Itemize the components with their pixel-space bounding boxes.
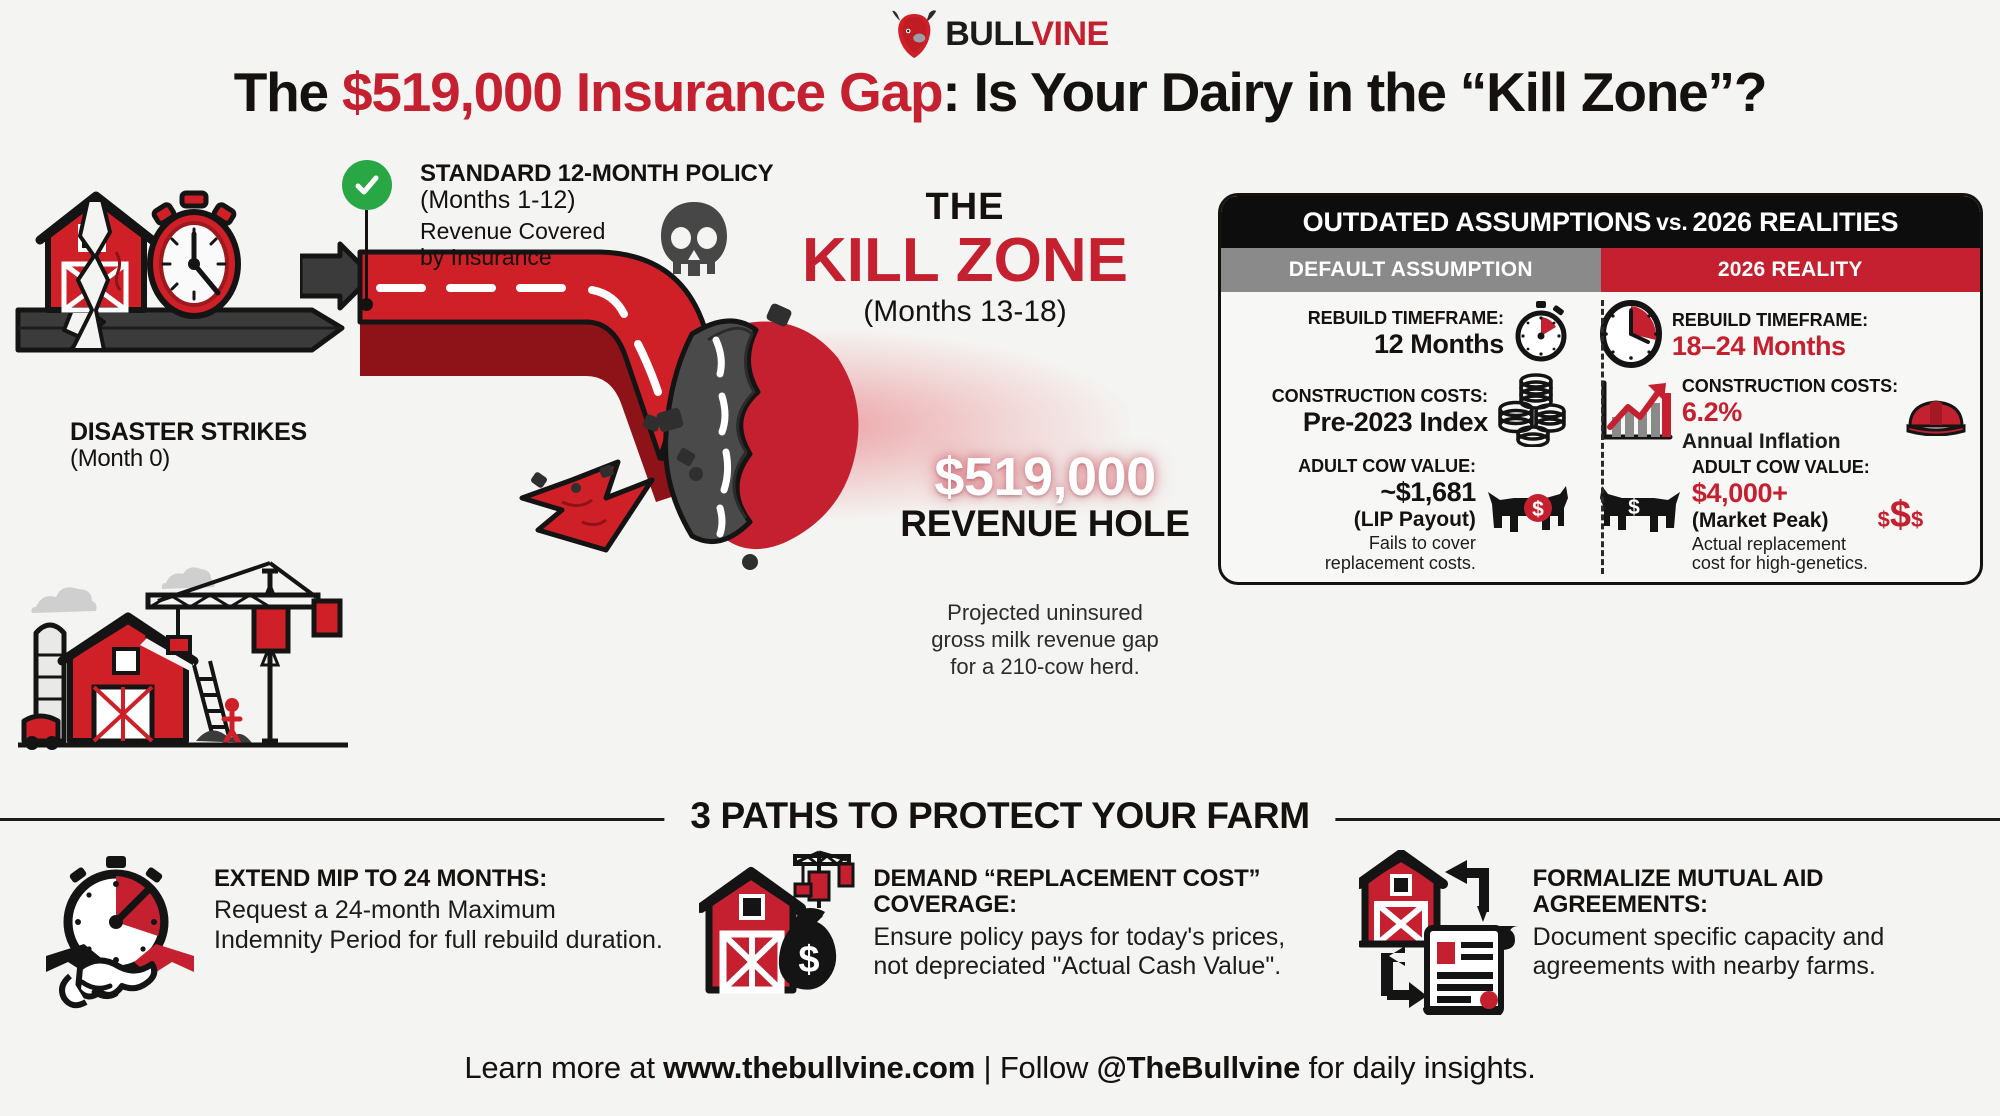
table-row: REBUILD TIMEFRAME: 12 Months: [1221, 300, 1584, 367]
revenue-hole-value: $519,000: [885, 450, 1205, 504]
clock-icon: [1598, 300, 1664, 373]
cell-paren: (LIP Payout): [1298, 508, 1476, 532]
footer-site-link[interactable]: www.thebullvine.com: [663, 1050, 975, 1085]
comparison-column-right: REBUILD TIMEFRAME: 18–24 Months: [1584, 292, 1980, 582]
cell-note: Fails to coverreplacement costs.: [1298, 534, 1476, 574]
cell-value: ~$1,681: [1298, 477, 1476, 508]
cell-label: ADULT COW VALUE:: [1298, 456, 1476, 477]
cell-note: Annual Inflation: [1682, 430, 1898, 453]
comparison-column-left: REBUILD TIMEFRAME: 12 Months: [1221, 292, 1584, 582]
callout-stem: [365, 210, 368, 305]
table-row: CONSTRUCTION COSTS: 6.2% Annual Inflatio…: [1584, 376, 1980, 453]
kill-zone-the: THE: [730, 188, 1200, 226]
cow-dollar-icon: $: [1598, 482, 1684, 549]
hole-note-line2: gross milk revenue gap: [885, 627, 1205, 654]
svg-text:$: $: [1532, 498, 1544, 521]
list-item: EXTEND MIP TO 24 MONTHS: Request a 24-mo…: [0, 850, 681, 1015]
comparison-divider: [1601, 300, 1604, 574]
column-header-reality: 2026 REALITY: [1601, 248, 1981, 292]
cow-dollar-icon: $: [1484, 482, 1570, 549]
bull-head-logo-icon: [891, 8, 937, 60]
comparison-title-main: OUTDATED ASSUMPTIONS: [1303, 207, 1652, 238]
svg-text:$: $: [1628, 496, 1640, 519]
headline-pre: The: [234, 61, 342, 123]
cell-label: REBUILD TIMEFRAME:: [1672, 310, 1868, 331]
hole-note-line3: for a 210-cow herd.: [885, 654, 1205, 681]
hole-note-line1: Projected uninsured: [885, 600, 1205, 627]
barn-under-construction-icon: [18, 545, 348, 775]
kill-zone-block: THE KILL ZONE (Months 13-18): [730, 188, 1200, 329]
revenue-hole-label: REVENUE HOLE: [885, 505, 1205, 544]
comparison-card: OUTDATED ASSUMPTIONS vs. 2026 REALITIES …: [1218, 193, 1983, 585]
kill-zone-title: KILL ZONE: [730, 228, 1200, 293]
paths-section-heading: 3 PATHS TO PROTECT YOUR FARM: [664, 795, 1335, 837]
cell-label: ADULT COW VALUE:: [1692, 457, 1870, 478]
list-item: $ DEMAND “REPLACEMENT COST” COVERAGE: En…: [681, 850, 1340, 1015]
svg-text:$: $: [799, 939, 820, 981]
kill-zone-months: (Months 13-18): [730, 295, 1200, 329]
cell-value: $4,000+: [1692, 478, 1870, 509]
path-title: DEMAND “REPLACEMENT COST” COVERAGE:: [873, 866, 1322, 919]
footer: Learn more at www.thebullvine.com | Foll…: [0, 1050, 2000, 1086]
green-check-icon: [342, 160, 392, 210]
page-title: The $519,000 Insurance Gap: Is Your Dair…: [0, 60, 2000, 124]
cell-value: 6.2%: [1682, 397, 1898, 428]
footer-handle-link[interactable]: @TheBullvine: [1097, 1050, 1301, 1085]
brand-logo: BULLVINE: [891, 8, 1108, 60]
footer-mid: | Follow: [975, 1050, 1096, 1085]
table-row: $ ADULT COW VALUE: $4,000+ (Market Peak)…: [1584, 457, 1980, 575]
column-header-default: DEFAULT ASSUMPTION: [1221, 248, 1601, 292]
revenue-hole-note: Projected uninsured gross milk revenue g…: [885, 600, 1205, 680]
list-item: FORMALIZE MUTUAL AID AGREEMENTS: Documen…: [1341, 850, 2000, 1015]
comparison-card-title: OUTDATED ASSUMPTIONS vs. 2026 REALITIES: [1221, 196, 1980, 248]
brand-name-part2: VINE: [1031, 15, 1108, 53]
hard-hat-icon: [1906, 388, 1966, 441]
path-title: EXTEND MIP TO 24 MONTHS:: [214, 866, 663, 892]
footer-post: for daily insights.: [1300, 1050, 1536, 1085]
cell-value: 18–24 Months: [1672, 331, 1868, 362]
cell-value: Pre-2023 Index: [1272, 407, 1488, 438]
policy-title: STANDARD 12-MONTH POLICY: [420, 160, 820, 188]
coin-stacks-icon: [1496, 371, 1570, 452]
dollar-signs-icon: $$$: [1878, 496, 1924, 534]
headline-accent: $519,000 Insurance Gap: [342, 61, 942, 123]
skull-icon: [655, 200, 733, 292]
comparison-title-end: 2026 REALITIES: [1693, 207, 1899, 238]
path-body: Request a 24-month Maximum Indemnity Per…: [214, 896, 663, 955]
cell-label: CONSTRUCTION COSTS:: [1272, 386, 1488, 407]
table-row: ADULT COW VALUE: ~$1,681 (LIP Payout) Fa…: [1221, 456, 1584, 574]
table-row: REBUILD TIMEFRAME: 18–24 Months: [1584, 300, 1980, 373]
comparison-body: REBUILD TIMEFRAME: 12 Months: [1221, 292, 1980, 582]
footer-pre: Learn more at: [464, 1050, 663, 1085]
cell-note: Actual replacementcost for high-genetics…: [1692, 535, 1870, 575]
comparison-column-headers: DEFAULT ASSUMPTION 2026 REALITY: [1221, 248, 1980, 292]
handshake-stopwatch-icon: [40, 850, 200, 1015]
stopwatch-icon: [1512, 300, 1570, 367]
path-body: Document specific capacity and agreement…: [1533, 923, 1982, 982]
paths-list: EXTEND MIP TO 24 MONTHS: Request a 24-mo…: [0, 850, 2000, 1015]
cell-label: CONSTRUCTION COSTS:: [1682, 376, 1898, 397]
callout-dot: [360, 298, 373, 311]
barn-contract-exchange-icon: [1359, 850, 1519, 1015]
brand-wordmark: BULLVINE: [945, 17, 1108, 51]
cell-paren: (Market Peak): [1692, 509, 1870, 533]
headline-post: : Is Your Dairy in the “Kill Zone”?: [942, 61, 1766, 123]
table-row: CONSTRUCTION COSTS: Pre-2023 Index: [1221, 371, 1584, 452]
cell-value: 12 Months: [1308, 329, 1504, 360]
comparison-title-vs: vs.: [1656, 209, 1687, 236]
infographic-root: BULLVINE The $519,000 Insurance Gap: Is …: [0, 0, 2000, 1116]
barn-crane-moneybag-icon: $: [699, 850, 859, 1015]
rising-chart-icon: [1598, 379, 1674, 450]
brand-name-part1: BULL: [945, 15, 1031, 53]
revenue-hole-amount: $519,000 REVENUE HOLE: [885, 450, 1205, 544]
path-title: FORMALIZE MUTUAL AID AGREEMENTS:: [1533, 866, 1982, 919]
path-body: Ensure policy pays for today's prices, n…: [873, 923, 1322, 982]
cell-label: REBUILD TIMEFRAME:: [1308, 308, 1504, 329]
